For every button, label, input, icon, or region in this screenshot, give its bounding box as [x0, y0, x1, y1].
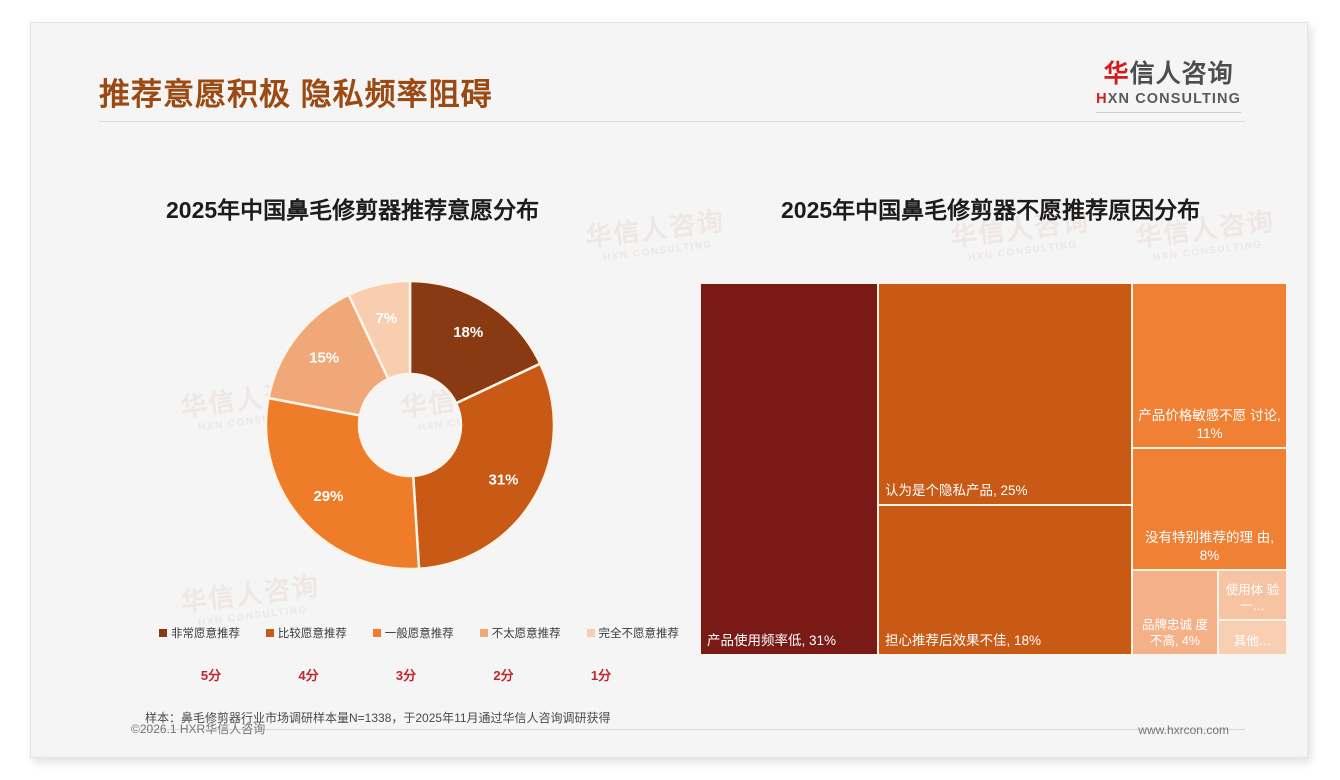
donut-legend: 非常愿意推荐比较愿意推荐一般愿意推荐不太愿意推荐完全不愿意推荐 [159, 625, 679, 641]
donut-slice[interactable] [266, 398, 419, 569]
footer-website: www.hxrcon.com [1138, 723, 1229, 737]
logo-english-text: HXN CONSULTING [1096, 91, 1241, 107]
logo-cn-rest: 信人咨询 [1130, 60, 1234, 88]
legend-swatch-icon [373, 629, 381, 637]
header-divider [99, 121, 1245, 122]
treemap-cell-label: 认为是个隐私产品, 25% [885, 482, 1127, 499]
legend-swatch-icon [587, 629, 595, 637]
score-label: 5分 [181, 665, 241, 684]
score-label: 1分 [571, 665, 631, 684]
treemap-cell[interactable]: 使用体 验一… [1218, 570, 1287, 620]
donut-slice-label: 29% [313, 488, 343, 505]
legend-item-label: 非常愿意推荐 [171, 625, 240, 641]
recommendation-willingness-donut-chart: 18%31%29%15%7% [263, 278, 557, 572]
treemap-cell-label: 品牌忠诚 度不高, 4% [1136, 617, 1214, 649]
watermark: 华信人咨询 HXN CONSULTING [584, 205, 728, 267]
logo-underline [1096, 112, 1241, 113]
legend-item-label: 完全不愿意推荐 [599, 625, 680, 641]
logo-chinese-text: 华信人咨询 [1096, 61, 1241, 89]
treemap-cell[interactable]: 品牌忠诚 度不高, 4% [1132, 570, 1218, 655]
treemap-cell[interactable]: 产品价格敏感不愿 讨论, 11% [1132, 283, 1287, 448]
treemap-cell[interactable]: 认为是个隐私产品, 25% [878, 283, 1132, 505]
right-chart-title: 2025年中国鼻毛修剪器不愿推荐原因分布 [781, 191, 1200, 225]
score-label: 4分 [279, 665, 339, 684]
legend-item[interactable]: 不太愿意推荐 [480, 625, 561, 641]
slide-header: 推荐意愿积极 隐私频率阻碍 华信人咨询 HXN CONSULTING [31, 23, 1307, 123]
watermark-line-1: 华信人咨询 [584, 205, 727, 254]
treemap-cell-label: 使用体 验一… [1222, 582, 1283, 614]
treemap-cell-label: 其他… [1222, 633, 1283, 649]
donut-slice-label: 31% [489, 471, 519, 488]
score-scale-row: 5分4分3分2分1分 [181, 665, 631, 684]
watermark: 华信人咨询 HXN CONSULTING [179, 570, 323, 632]
legend-item[interactable]: 比较愿意推荐 [266, 625, 347, 641]
score-label: 3分 [376, 665, 436, 684]
treemap-cell-label: 担心推荐后效果不佳, 18% [885, 632, 1127, 649]
donut-svg: 18%31%29%15%7% [263, 278, 557, 572]
left-chart-title: 2025年中国鼻毛修剪器推荐意愿分布 [166, 191, 539, 225]
legend-item-label: 比较愿意推荐 [278, 625, 347, 641]
treemap-cell-label: 没有特别推荐的理 由, 8% [1136, 529, 1283, 564]
page-title: 推荐意愿积极 隐私频率阻碍 [99, 69, 493, 114]
treemap-cell[interactable]: 其他… [1218, 620, 1287, 655]
legend-swatch-icon [480, 629, 488, 637]
score-label: 2分 [474, 665, 534, 684]
legend-item[interactable]: 非常愿意推荐 [159, 625, 240, 641]
legend-swatch-icon [159, 629, 167, 637]
treemap-cell-label: 产品使用频率低, 31% [707, 632, 873, 649]
slide-canvas: 推荐意愿积极 隐私频率阻碍 华信人咨询 HXN CONSULTING 华信人咨询… [30, 22, 1308, 758]
legend-item[interactable]: 一般愿意推荐 [373, 625, 454, 641]
treemap-cell[interactable]: 产品使用频率低, 31% [700, 283, 878, 655]
unwilling-reasons-treemap: 产品使用频率低, 31%认为是个隐私产品, 25%担心推荐后效果不佳, 18%产… [700, 283, 1287, 655]
company-logo: 华信人咨询 HXN CONSULTING [1096, 61, 1241, 113]
watermark-line-2: HXN CONSULTING [953, 237, 1093, 266]
legend-item-label: 一般愿意推荐 [385, 625, 454, 641]
treemap-cell-label: 产品价格敏感不愿 讨论, 11% [1136, 407, 1283, 442]
donut-slice-label: 18% [453, 324, 483, 341]
legend-swatch-icon [266, 629, 274, 637]
sample-divider [143, 729, 1245, 730]
legend-item[interactable]: 完全不愿意推荐 [587, 625, 680, 641]
donut-slice-label: 15% [309, 349, 339, 366]
donut-slice[interactable] [413, 364, 554, 569]
watermark-line-2: HXN CONSULTING [1138, 237, 1278, 266]
logo-hua-char: 华 [1104, 60, 1130, 88]
logo-en-rest: XN CONSULTING [1108, 91, 1241, 107]
watermark-line-1: 华信人咨询 [179, 570, 322, 619]
donut-slice-label: 7% [375, 310, 397, 327]
footer-copyright: ©2026.1 HXR华信人咨询 [131, 720, 265, 737]
treemap-cell[interactable]: 没有特别推荐的理 由, 8% [1132, 448, 1287, 570]
treemap-cell[interactable]: 担心推荐后效果不佳, 18% [878, 505, 1132, 655]
legend-item-label: 不太愿意推荐 [492, 625, 561, 641]
watermark-line-2: HXN CONSULTING [588, 237, 728, 266]
logo-h-char: H [1096, 91, 1108, 107]
